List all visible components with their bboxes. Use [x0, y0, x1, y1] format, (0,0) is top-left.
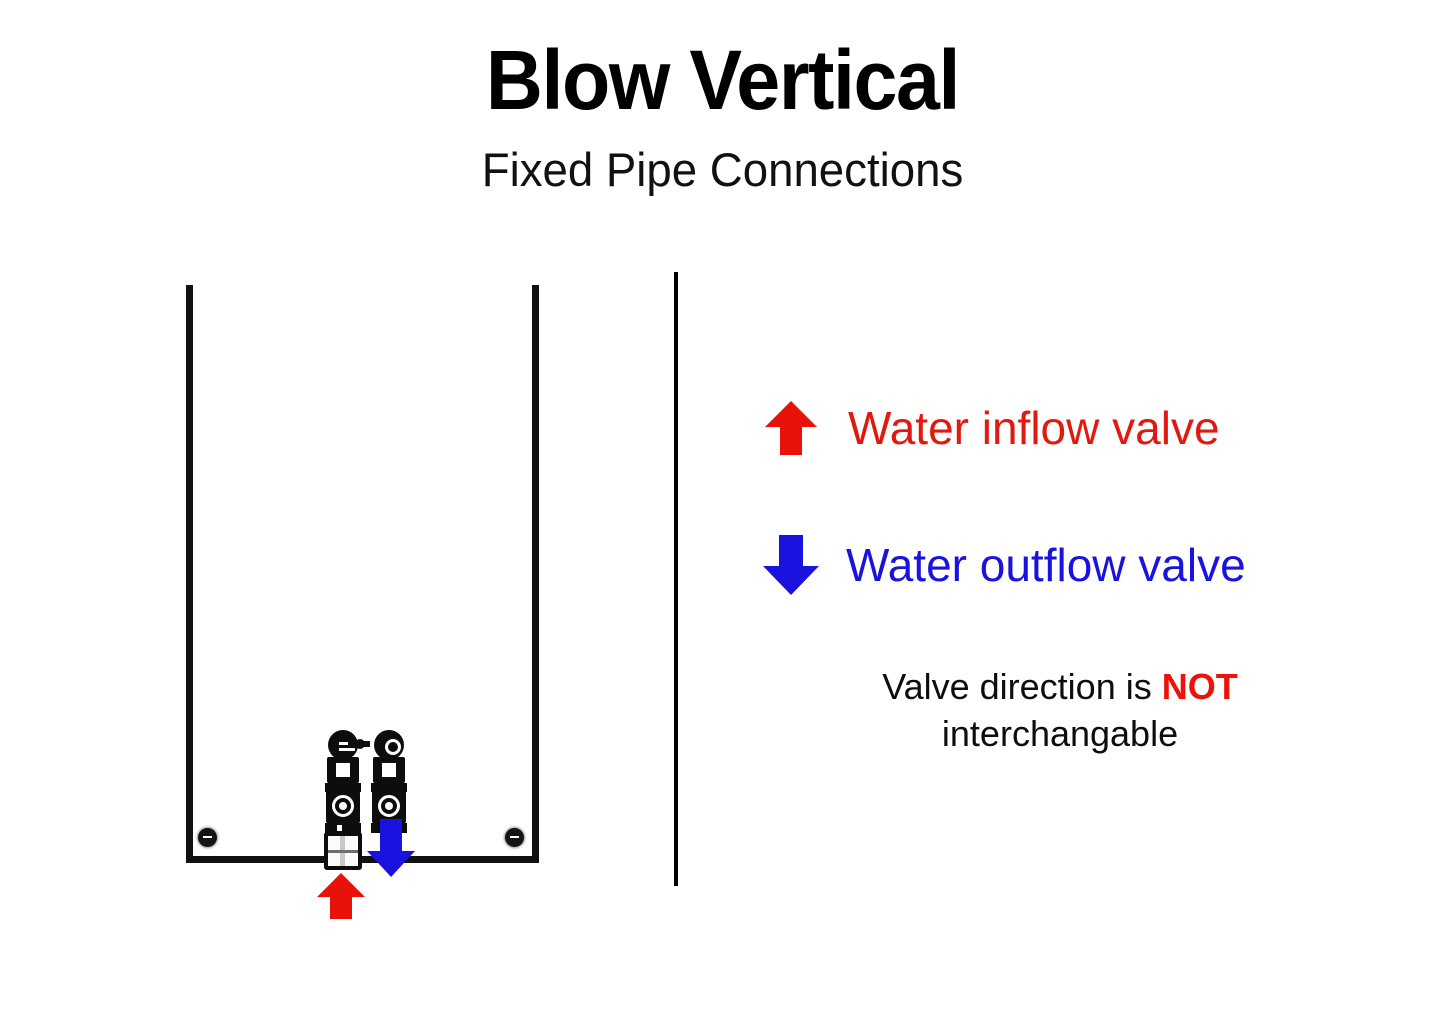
diagram-panel [0, 0, 674, 1028]
frame-foot-left [198, 828, 217, 847]
inflow-valve-pipe [324, 832, 362, 870]
valve-lever-pin [355, 739, 365, 749]
outflow-valve-ball-dot [385, 802, 393, 810]
legend-label-inflow: Water inflow valve [848, 405, 1220, 451]
frame-rail-left [186, 285, 193, 863]
legend-label-outflow: Water outflow valve [846, 542, 1246, 588]
arrow-up-icon [764, 400, 818, 456]
legend-item-inflow: Water inflow valve [764, 400, 1220, 456]
legend-note: Valve direction is NOTinterchangable [770, 664, 1350, 758]
frame-rail-right [532, 285, 539, 863]
inflow-valve-stack [324, 728, 362, 868]
legend-note-lead: Valve direction is [882, 666, 1161, 707]
legend-note-emphasis: NOT [1162, 666, 1238, 707]
inflow-valve-ball-dot [339, 802, 347, 810]
frame-foot-right [505, 828, 524, 847]
arrow-down-icon [762, 534, 820, 596]
inflow-valve-neck [327, 757, 359, 783]
diagram-inflow-arrow-up-icon [316, 872, 366, 920]
legend-panel: Water inflow valve Water outflow valve V… [674, 0, 1445, 1028]
legend-item-outflow: Water outflow valve [762, 534, 1246, 596]
inflow-valve-body [326, 790, 360, 824]
legend-note-trail: interchangable [942, 713, 1178, 754]
outflow-valve-neck [373, 757, 405, 783]
outflow-valve-handle-knob [374, 730, 404, 760]
outflow-valve-handle-ring [385, 739, 401, 755]
diagram-outflow-arrow-down-icon [366, 818, 416, 878]
